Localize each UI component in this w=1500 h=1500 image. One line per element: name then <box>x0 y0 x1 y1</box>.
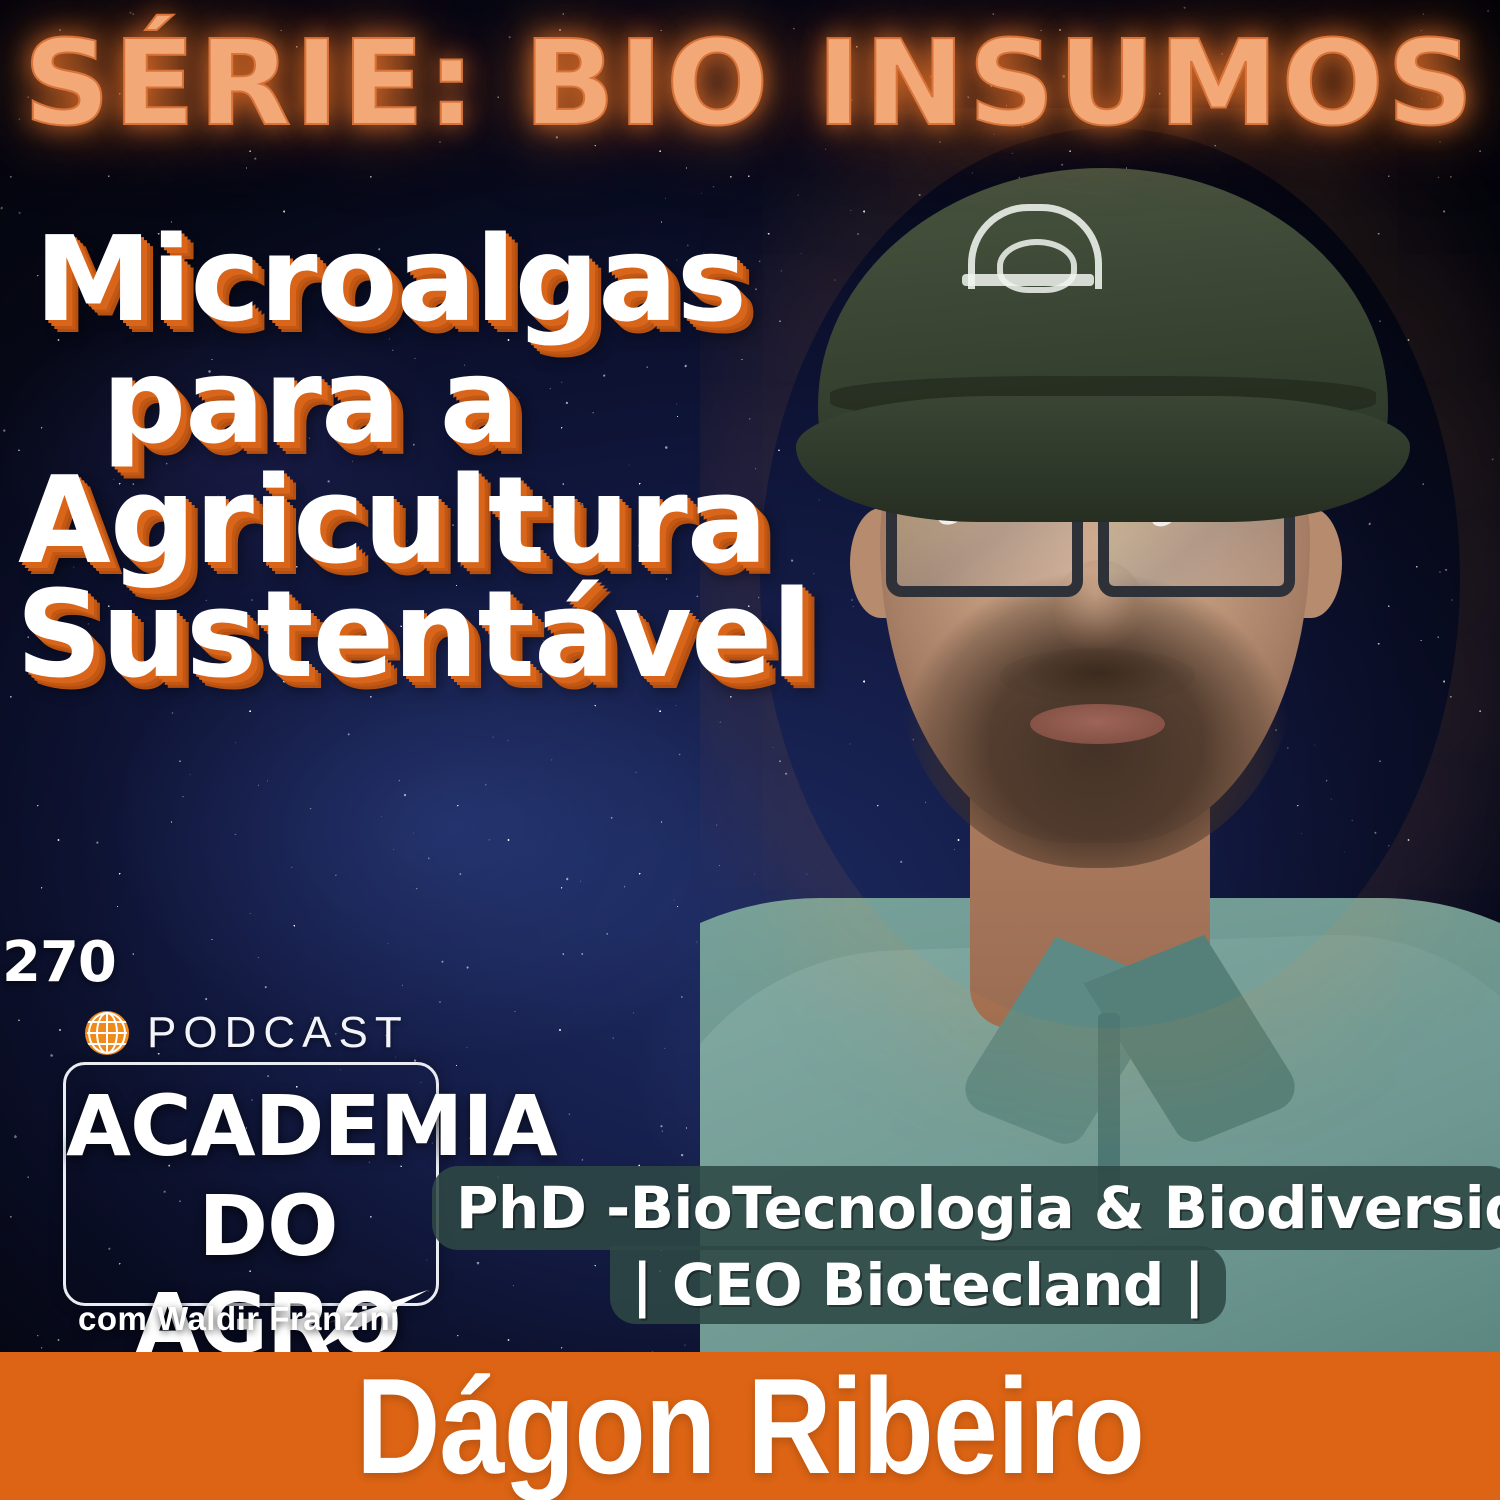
guest-name: Dágon Ribeiro <box>105 1347 1395 1500</box>
cap-crest-base <box>962 274 1094 286</box>
cap-brim <box>796 396 1410 522</box>
podcast-cover-art: SÉRIE: BIO INSUMOS Microalgas para a Agr… <box>0 0 1500 1500</box>
title-line-3: Agricultura <box>10 463 780 581</box>
episode-title: Microalgas para a Agricultura Sustentáve… <box>10 222 780 694</box>
title-line-2: para a <box>10 344 780 460</box>
globe-icon <box>85 1011 129 1055</box>
host-credit: com Waldir Franzini <box>78 1300 400 1338</box>
lips-shape <box>1030 704 1165 744</box>
title-line-4: Sustentável <box>10 577 780 695</box>
brand-speech-bubble: ACADEMIA DO AGRO <box>63 1062 439 1306</box>
credential-line-2: | CEO Biotecland | <box>610 1246 1226 1324</box>
episode-number: 270 <box>2 930 116 995</box>
credential-line-1: PhD -BioTecnologia & Biodiversidade <box>432 1166 1500 1250</box>
title-line-1: Microalgas <box>10 222 780 338</box>
globe-meridian-outer <box>88 1012 126 1054</box>
brand-name-line-1: ACADEMIA <box>66 1077 436 1175</box>
podcast-label: PODCAST <box>147 1008 409 1058</box>
podcast-brand-row: PODCAST <box>85 1008 409 1058</box>
mustache-shape <box>1000 648 1195 704</box>
series-header: SÉRIE: BIO INSUMOS <box>0 24 1500 142</box>
